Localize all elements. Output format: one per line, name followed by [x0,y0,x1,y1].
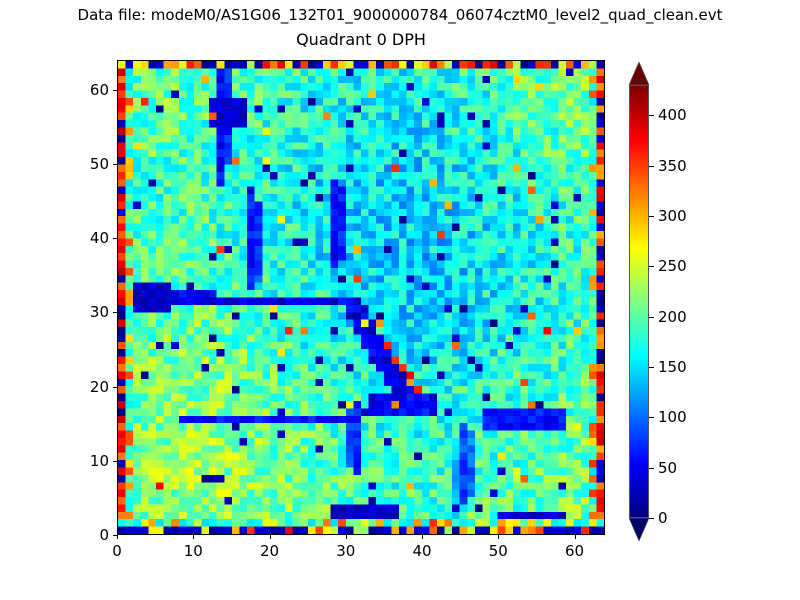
colorbar-tick-label: 300 [658,207,687,225]
colorbar-extend-top-icon [629,62,649,85]
page-title: Quadrant 0 DPH [117,30,605,49]
colorbar-tick-label: 200 [658,308,687,326]
x-tick-label: 50 [489,542,508,560]
y-tick-label: 30 [65,303,109,321]
colorbar-tick-mark [649,367,654,368]
y-tick-mark [113,164,117,165]
x-tick-mark [270,535,271,539]
x-tick-mark [193,535,194,539]
x-tick-label: 20 [260,542,279,560]
y-tick-label: 20 [65,378,109,396]
x-tick-label: 60 [565,542,584,560]
y-tick-label: 10 [65,452,109,470]
y-tick-mark [113,387,117,388]
colorbar-tick-label: 0 [658,509,668,527]
colorbar-tick-label: 150 [658,358,687,376]
colorbar-extend-bottom-icon [629,518,649,541]
colorbar-tick-mark [649,216,654,217]
y-tick-mark [113,535,117,536]
x-tick-mark [117,535,118,539]
colorbar-tick-mark [649,518,654,519]
y-tick-label: 0 [65,526,109,544]
y-tick-label: 40 [65,229,109,247]
colorbar-gradient [629,85,649,518]
colorbar-tick-mark [649,468,654,469]
x-tick-label: 0 [112,542,122,560]
y-tick-mark [113,90,117,91]
colorbar-tick-mark [649,115,654,116]
x-tick-label: 10 [184,542,203,560]
figure-canvas: Data file: modeM0/AS1G06_132T01_90000007… [0,0,800,600]
y-tick-mark [113,238,117,239]
x-tick-mark [422,535,423,539]
x-tick-mark [575,535,576,539]
heatmap-axes[interactable] [117,60,605,535]
colorbar-tick-label: 350 [658,157,687,175]
colorbar-tick-mark [649,166,654,167]
data-file-suptitle: Data file: modeM0/AS1G06_132T01_90000007… [0,6,800,24]
x-tick-mark [498,535,499,539]
y-tick-mark [113,461,117,462]
colorbar-tick-label: 100 [658,408,687,426]
colorbar[interactable]: 050100150200250300350400 [629,62,649,540]
colorbar-tick-label: 50 [658,459,677,477]
x-tick-mark [346,535,347,539]
colorbar-tick-mark [649,417,654,418]
x-tick-label: 30 [336,542,355,560]
y-tick-mark [113,312,117,313]
heatmap-image[interactable] [118,61,604,534]
colorbar-tick-mark [649,266,654,267]
colorbar-tick-mark [649,317,654,318]
y-tick-label: 50 [65,155,109,173]
y-tick-label: 60 [65,81,109,99]
x-tick-label: 40 [412,542,431,560]
colorbar-tick-label: 400 [658,106,687,124]
colorbar-tick-label: 250 [658,257,687,275]
